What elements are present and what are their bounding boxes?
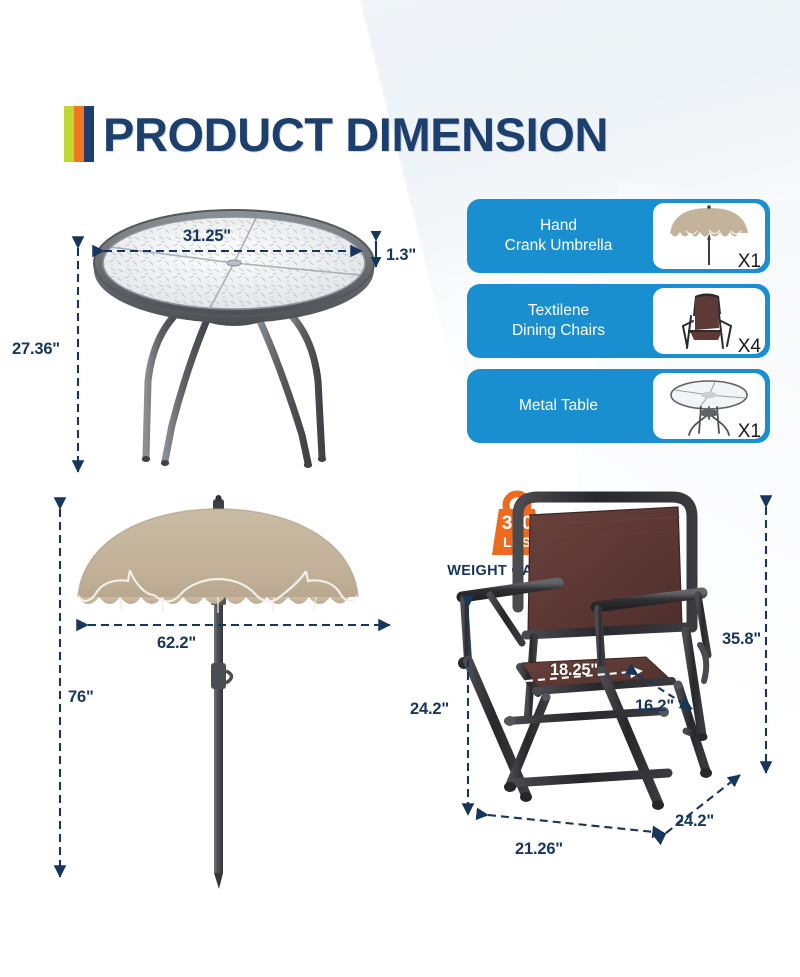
chair-base-depth-label: 24.2": [675, 812, 714, 831]
chair-base-width-label: 21.26": [515, 840, 563, 859]
accent-bar-green: [64, 106, 74, 162]
accent-bars: [64, 106, 94, 162]
table-height-label: 27.36": [12, 340, 60, 359]
chair-height-label: 24.2": [410, 700, 449, 719]
legend-item-umbrella[interactable]: Hand Crank Umbrella X1: [467, 199, 770, 273]
table-diameter-label: 31.25": [183, 227, 231, 246]
included-items-legend: Hand Crank Umbrella X1 Textilene Dining …: [467, 199, 770, 454]
chair-back-height-label: 35.8": [722, 630, 761, 649]
legend-item-chairs[interactable]: Textilene Dining Chairs X4: [467, 284, 770, 358]
chair-seat-depth-label: 16.2": [635, 697, 674, 716]
accent-bar-navy: [84, 106, 94, 162]
legend-item-qty: X1: [738, 422, 761, 441]
page-title: PRODUCT DIMENSION: [64, 106, 608, 162]
legend-item-table[interactable]: Metal Table X1: [467, 369, 770, 443]
product-dimension-infographic: PRODUCT DIMENSION: [0, 0, 800, 977]
table-thickness-label: 1.3": [386, 246, 416, 265]
legend-item-label: Textilene Dining Chairs: [467, 301, 646, 341]
legend-item-qty: X4: [738, 337, 761, 356]
umbrella-height-label: 76": [68, 688, 94, 707]
umbrella-width-label: 62.2": [157, 634, 196, 653]
table-dimension-arrows: [60, 195, 420, 485]
legend-item-qty: X1: [738, 252, 761, 271]
page-title-text: PRODUCT DIMENSION: [103, 111, 608, 158]
chair-seat-width-label: 18.25": [550, 661, 598, 680]
accent-bar-orange: [74, 106, 84, 162]
chair-dimension-arrows: [430, 485, 800, 875]
legend-item-label: Hand Crank Umbrella: [467, 216, 646, 256]
legend-item-label: Metal Table: [467, 396, 646, 416]
